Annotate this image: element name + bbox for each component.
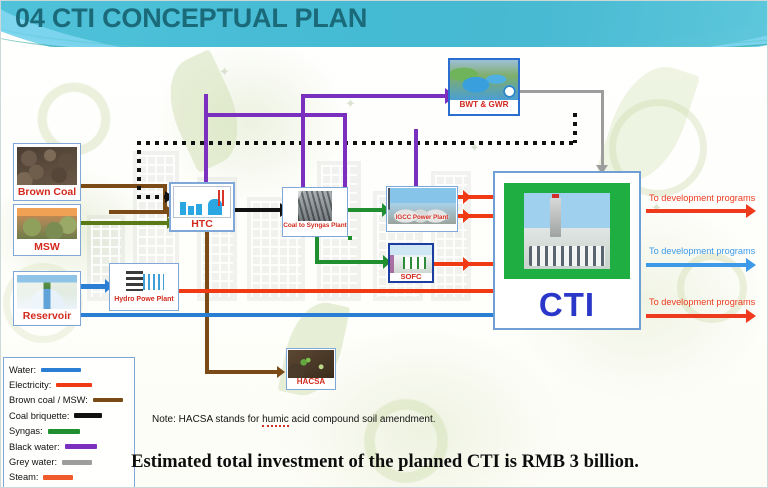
arrowhead-out-2 bbox=[746, 258, 756, 272]
line-blackwater-h2 bbox=[204, 113, 305, 117]
line-briquette-stub bbox=[137, 195, 167, 199]
brown-coal-label: Brown Coal bbox=[14, 187, 80, 198]
line-out-3 bbox=[646, 314, 750, 318]
cti-image bbox=[524, 193, 610, 269]
legend-item: Syngas: bbox=[9, 424, 134, 439]
arrowhead-out-1 bbox=[746, 204, 756, 218]
arrowhead-igcc-cti-2 bbox=[463, 209, 471, 223]
sofc-label: SOFC bbox=[390, 273, 432, 281]
line-reservoir-cti-water bbox=[79, 313, 494, 317]
legend-label-browncoal-msw: Brown coal / MSW: bbox=[9, 395, 88, 405]
output-label-2: To development programs bbox=[649, 246, 755, 256]
line-htc-syngas bbox=[234, 208, 282, 212]
line-browncoal-h1 bbox=[79, 184, 167, 188]
line-blackwater-igcc-v bbox=[414, 129, 418, 189]
legend-item: Brown coal / MSW: bbox=[9, 393, 134, 408]
hydro-plant-image bbox=[116, 267, 172, 295]
note-text: Note: HACSA stands for humic acid compou… bbox=[152, 414, 436, 425]
legend-swatch-coal-briquette bbox=[74, 413, 102, 418]
line-msw-h bbox=[79, 221, 167, 225]
bwt-gwr-image bbox=[450, 60, 518, 100]
sparkle-icon: ✦ bbox=[219, 65, 230, 78]
legend-item: Water: bbox=[9, 362, 134, 377]
slide-canvas: ✦ ✦ ✦ ✦ 04 CTI CONCEPTUAL PLAN bbox=[0, 0, 768, 488]
node-cti[interactable]: CTI bbox=[493, 171, 641, 330]
line-hydro-cti-electricity bbox=[178, 289, 494, 293]
node-sofc[interactable]: SOFC bbox=[388, 243, 434, 283]
line-reservoir-hydro bbox=[79, 284, 107, 289]
line-out-1 bbox=[646, 209, 750, 213]
line-blackwater-left-v bbox=[301, 94, 305, 189]
output-label-3: To development programs bbox=[649, 297, 755, 307]
legend-swatch-browncoal-msw bbox=[93, 398, 123, 402]
arrowhead-out-3 bbox=[746, 309, 756, 323]
line-blackwater-syngas-v bbox=[343, 113, 347, 189]
legend-label-water: Water: bbox=[9, 365, 36, 375]
node-igcc-power-plant[interactable]: IGCC Power Plant bbox=[386, 186, 458, 232]
legend-item: Coal briquette: bbox=[9, 408, 134, 423]
page-title: 04 CTI CONCEPTUAL PLAN bbox=[15, 3, 367, 34]
node-coal-to-syngas-plant[interactable]: Coal to Syngas Plant bbox=[282, 187, 348, 237]
note-prefix: Note: HACSA stands for bbox=[152, 414, 262, 425]
line-blackwater-h3 bbox=[305, 113, 347, 117]
hacsa-image bbox=[288, 350, 334, 378]
arrowhead-sofc-cti bbox=[463, 257, 471, 271]
node-hacsa[interactable]: HACSA bbox=[286, 348, 336, 390]
line-briquette-v2 bbox=[573, 113, 577, 143]
line-browncoal-h2 bbox=[109, 210, 167, 214]
line-greywater-h bbox=[520, 90, 604, 93]
node-reservoir[interactable]: Reservoir bbox=[13, 271, 81, 326]
node-bwt-gwr[interactable]: BWT & GWR bbox=[448, 58, 520, 116]
output-label-1: To development programs bbox=[649, 193, 755, 203]
note-highlight: humic bbox=[262, 414, 289, 427]
line-briquette-v bbox=[137, 141, 141, 197]
line-greywater-v bbox=[601, 90, 604, 168]
brown-coal-image bbox=[17, 147, 77, 185]
line-syngas-sofc-stub bbox=[348, 236, 352, 240]
summary-statement: Estimated total investment of the planne… bbox=[1, 451, 768, 473]
legend-swatch-black-water bbox=[65, 444, 97, 449]
legend-label-coal-briquette: Coal briquette: bbox=[9, 411, 69, 421]
reservoir-label: Reservoir bbox=[14, 311, 80, 322]
note-suffix: acid compound soil amendment. bbox=[289, 414, 436, 425]
flower-watermark bbox=[331, 393, 481, 488]
line-out-2 bbox=[646, 263, 750, 267]
cti-label: CTI bbox=[495, 286, 639, 324]
legend-swatch-electricity bbox=[56, 383, 92, 387]
coal-to-syngas-label: Coal to Syngas Plant bbox=[283, 223, 347, 230]
line-htc-hacsa-v bbox=[205, 232, 209, 374]
cti-green-panel bbox=[504, 183, 630, 279]
node-msw[interactable]: MSW bbox=[13, 204, 81, 256]
node-htc[interactable]: HTC bbox=[169, 182, 235, 232]
legend-label-syngas: Syngas: bbox=[9, 426, 43, 436]
line-briquette-h bbox=[137, 141, 577, 145]
coal-to-syngas-image bbox=[298, 191, 332, 221]
igcc-label: IGCC Power Plant bbox=[387, 215, 457, 222]
msw-image bbox=[17, 208, 77, 239]
bwt-gwr-label: BWT & GWR bbox=[450, 101, 518, 110]
legend-swatch-syngas bbox=[48, 429, 80, 434]
legend-swatch-steam bbox=[43, 475, 73, 480]
hydro-label: Hydro Powe Plant bbox=[110, 296, 178, 303]
sparkle-icon: ✦ bbox=[345, 97, 356, 110]
htc-label: HTC bbox=[171, 219, 233, 230]
line-blackwater-htc-v bbox=[204, 94, 208, 182]
legend-item: Electricity: bbox=[9, 377, 134, 392]
hacsa-label: HACSA bbox=[287, 378, 335, 386]
node-brown-coal[interactable]: Brown Coal bbox=[13, 143, 81, 201]
line-htc-hacsa-h bbox=[205, 370, 279, 374]
line-syngas-sofc-h bbox=[315, 260, 385, 264]
arrowhead-igcc-cti-1 bbox=[463, 190, 471, 204]
msw-label: MSW bbox=[14, 242, 80, 253]
reservoir-image bbox=[17, 275, 77, 309]
arrowhead-htc-hacsa bbox=[277, 366, 285, 378]
legend-label-electricity: Electricity: bbox=[9, 380, 51, 390]
line-syngas-igcc bbox=[348, 208, 384, 212]
legend-swatch-water bbox=[41, 368, 81, 372]
legend-label-steam: Steam: bbox=[9, 472, 38, 482]
line-blackwater-h bbox=[301, 94, 447, 98]
htc-image bbox=[173, 186, 231, 218]
sofc-image bbox=[390, 245, 432, 273]
node-hydro-power-plant[interactable]: Hydro Powe Plant bbox=[109, 263, 179, 311]
